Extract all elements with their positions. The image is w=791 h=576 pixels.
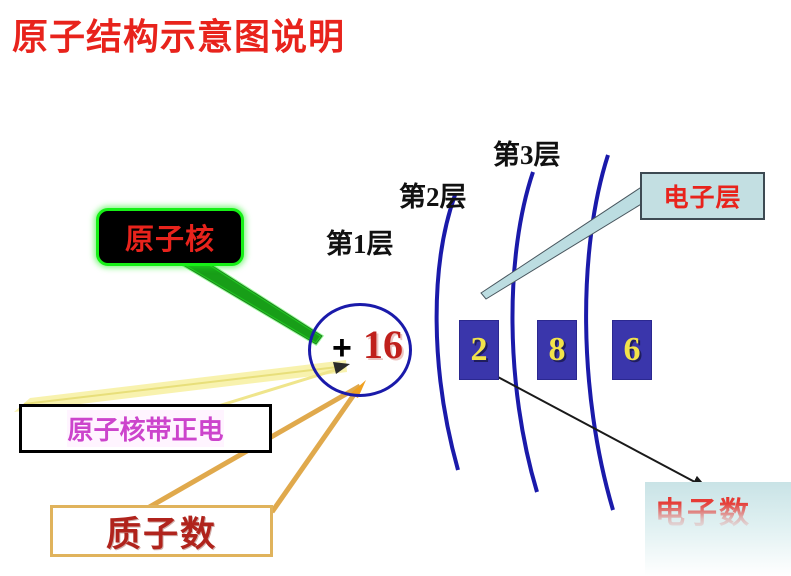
shell-label-3: 第3层 [493, 133, 561, 172]
callout-proton-number: 质子数 [50, 505, 273, 557]
electron-box-2: 8 [537, 320, 577, 380]
callout-electron-shell-label: 电子层 [663, 178, 741, 214]
shell-label-1: 第1层 [326, 222, 394, 261]
connector-nucleus-pointer [178, 258, 322, 344]
callout-nucleus: 原子核 [96, 208, 244, 266]
callout-nucleus-label: 原子核 [125, 216, 215, 258]
callout-electron-count: 电子数 [645, 482, 791, 576]
shell-label-2: 第2层 [399, 175, 467, 214]
page-title: 原子结构示意图说明 [12, 8, 345, 60]
electron-box-1: 2 [459, 320, 499, 380]
nucleus-charge-sign: + [332, 331, 352, 365]
shell-arc-1 [437, 195, 458, 470]
connector-shell-pointer [481, 186, 643, 299]
electron-box-3: 6 [612, 320, 652, 380]
callout-positive-charge-label: 原子核带正电 [67, 410, 223, 447]
callout-proton-number-label: 质子数 [106, 506, 217, 557]
shell-arc-2 [512, 172, 537, 492]
nucleus-proton-number: 16 [363, 325, 403, 365]
callout-positive-charge: 原子核带正电 [19, 404, 272, 453]
callout-electron-count-label: 电子数 [655, 488, 751, 532]
callout-electron-shell: 电子层 [640, 172, 765, 220]
connector-ecount-arrow [481, 368, 708, 489]
slide-canvas: 原子结构示意图说明 第1层 第2层 第3层 + 16 2 8 6 原子核 原子核… [0, 0, 791, 576]
